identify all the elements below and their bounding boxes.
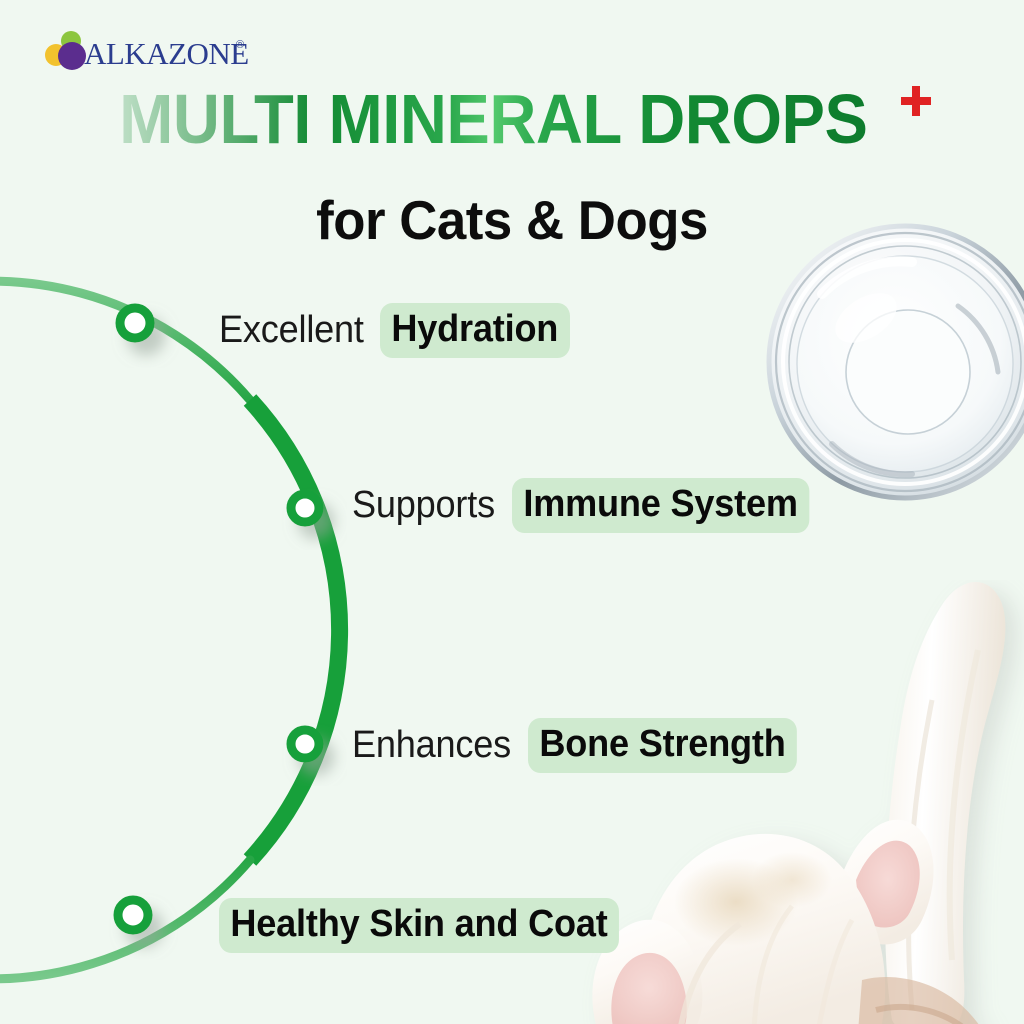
feature-highlight-text: Healthy Skin and Coat [219, 898, 619, 953]
feature-lead-text: Enhances [352, 724, 520, 767]
medical-cross-icon [899, 84, 933, 118]
page-title: MULTI MINERAL DROPS [119, 82, 867, 156]
feature-item-skin-and-coat: Healthy Skin and Coat [219, 899, 640, 951]
arc-node-1 [120, 308, 150, 338]
alkazone-bubbles-mark [45, 31, 86, 70]
feature-item-bone-strength: Enhances Bone Strength [352, 719, 812, 771]
arc-node-3 [291, 730, 319, 758]
brand-logo[interactable]: ALKAZONE ® [42, 28, 252, 74]
feature-item-hydration: Excellent Hydration [219, 304, 580, 356]
logo-trademark: ® [236, 39, 244, 51]
arc-node-4 [118, 900, 148, 930]
water-bowl-image [762, 222, 1024, 508]
feature-highlight-text: Bone Strength [528, 718, 797, 773]
headline-row: MULTI MINERAL DROPS [0, 82, 1024, 164]
arc-node-2 [291, 494, 319, 522]
page-subtitle: for Cats & Dogs [20, 188, 1003, 252]
product-infographic: ALKAZONE ® MULTI MINERAL DROPS for Cats … [0, 0, 1024, 1024]
feature-highlight-text: Hydration [380, 303, 570, 358]
feature-highlight-text: Immune System [512, 478, 809, 533]
feature-lead-text: Supports [352, 484, 504, 527]
cat-image [540, 580, 1024, 1024]
feature-item-immune-system: Supports Immune System [352, 479, 824, 531]
logo-wordmark: ALKAZONE [84, 36, 249, 71]
feature-lead-text: Excellent [219, 309, 372, 352]
